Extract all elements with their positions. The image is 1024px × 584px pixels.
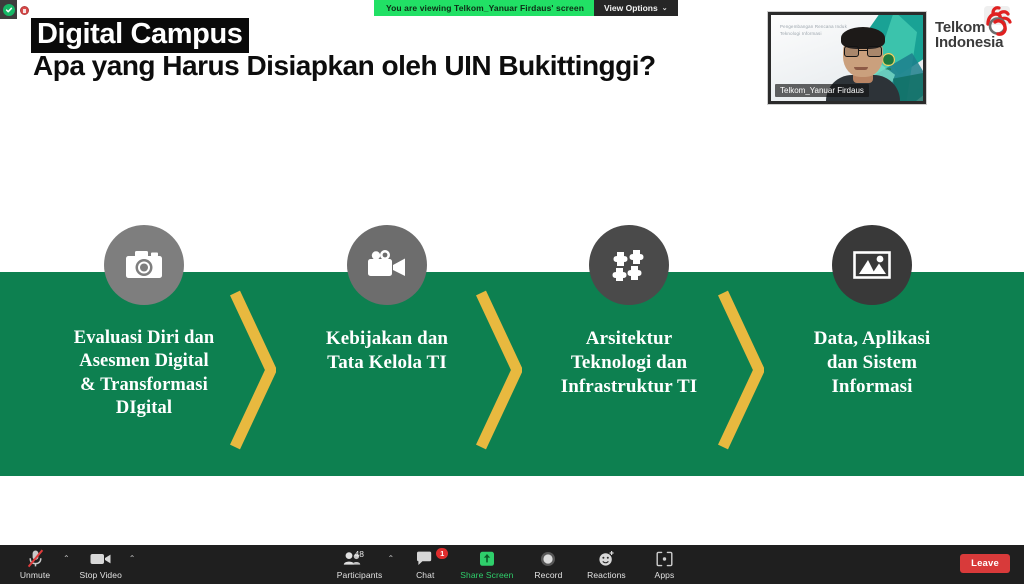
apps-label: Apps (655, 570, 675, 580)
stage-1: Evaluasi Diri dan Asesmen Digital & Tran… (46, 225, 242, 420)
chevron-arrow-3 (718, 288, 764, 452)
zoom-toolbar: Unmute ⌃ Stop Video ⌃ (0, 545, 1024, 584)
stage-4-circle (832, 225, 912, 305)
glasses-icon (844, 46, 882, 57)
stage-3-circle (589, 225, 669, 305)
viewing-screen-text: You are viewing Telkom_Yanuar Firdaus' s… (374, 0, 594, 16)
puzzle-pieces-icon (611, 248, 647, 282)
telkom-hand-mark-icon (981, 5, 1015, 37)
stage-1-circle (104, 225, 184, 305)
toolbar-center-group: 48 Participants ⌃ 1 Chat (0, 545, 1024, 584)
reactions-label: Reactions (587, 570, 626, 580)
record-icon (540, 549, 556, 568)
video-camera-icon (367, 250, 407, 280)
stage-3: Arsitektur Teknologi dan Infrastruktur T… (531, 225, 727, 399)
record-label: Record (534, 570, 562, 580)
encryption-indicator[interactable] (0, 0, 17, 19)
apps-icon (656, 549, 673, 568)
stage-2-label: Kebijakan dan Tata Kelola TI (289, 327, 485, 375)
chat-label: Chat (416, 570, 434, 580)
camera-icon (125, 248, 163, 282)
stage-1-label: Evaluasi Diri dan Asesmen Digital & Tran… (46, 327, 242, 420)
image-icon (853, 250, 891, 280)
self-view-thumbnail[interactable]: Pengembangan Rencana Induk Teknologi Inf… (768, 12, 926, 104)
slide-title-question: Apa yang Harus Disiapkan oleh UIN Bukitt… (33, 51, 656, 82)
stage-3-label: Arsitektur Teknologi dan Infrastruktur T… (531, 327, 727, 399)
telkom-indonesia-logo: Telkom Indonesia (933, 4, 1021, 50)
view-options-button[interactable]: View Options ⌄ (594, 0, 678, 16)
chevron-arrow-1 (230, 288, 276, 452)
chevron-down-icon: ⌄ (662, 4, 668, 12)
telkom-wordmark-line2: Indonesia (935, 35, 1003, 50)
shield-check-icon (3, 4, 15, 16)
leave-button[interactable]: Leave (960, 554, 1010, 573)
video-tile: Pengembangan Rencana Induk Teknologi Inf… (771, 15, 923, 101)
reactions-icon (598, 549, 615, 568)
participants-label: Participants (337, 570, 383, 580)
participants-chevron-up-icon[interactable]: ⌃ (388, 545, 395, 563)
slide-title-highlight: Digital Campus (31, 18, 249, 53)
record-button[interactable]: Record (519, 545, 577, 580)
view-options-label: View Options (604, 3, 658, 13)
stage-2-circle (347, 225, 427, 305)
share-screen-icon (478, 549, 496, 568)
participants-button[interactable]: 48 Participants (331, 545, 389, 580)
chat-unread-badge: 1 (436, 548, 448, 559)
stage-4: Data, Aplikasi dan Sistem Informasi (774, 225, 970, 399)
screen-share-banner: You are viewing Telkom_Yanuar Firdaus' s… (374, 0, 678, 16)
chevron-arrow-2 (476, 288, 522, 452)
apps-button[interactable]: Apps (635, 545, 693, 580)
stage-2: Kebijakan dan Tata Kelola TI (289, 225, 485, 375)
chat-bubble-icon: 1 (416, 549, 434, 568)
zoom-screen-share-window: Digital Campus Apa yang Harus Disiapkan … (0, 0, 1024, 584)
reactions-button[interactable]: Reactions (577, 545, 635, 580)
chat-button[interactable]: 1 Chat (396, 545, 454, 580)
participants-count: 48 (355, 549, 364, 559)
share-screen-button[interactable]: Share Screen (454, 545, 519, 580)
participant-name-label: Telkom_Yanuar Firdaus (775, 84, 869, 97)
meeting-status-indicators (0, 0, 44, 22)
share-screen-label: Share Screen (460, 570, 513, 580)
stage-4-label: Data, Aplikasi dan Sistem Informasi (774, 327, 970, 399)
participants-group: 48 Participants ⌃ (331, 545, 397, 580)
recording-stop-icon[interactable] (20, 6, 29, 15)
